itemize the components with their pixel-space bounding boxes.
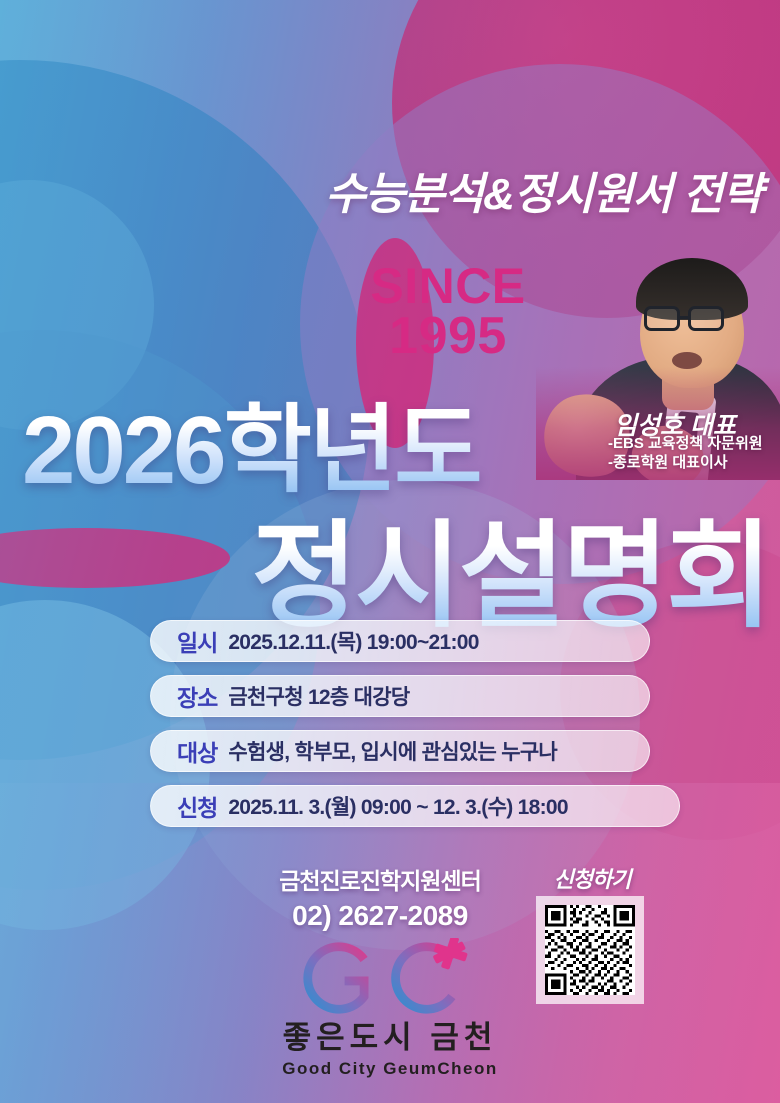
speaker-credentials: -EBS 교육정책 자문위원 -종로학원 대표이사 (608, 434, 763, 472)
logo-english-text: Good City GeumCheon (0, 1059, 780, 1079)
info-label: 장소 (177, 679, 217, 713)
info-row-date: 일시 2025.12.11.(목) 19:00~21:00 (150, 620, 650, 662)
info-label: 대상 (177, 734, 217, 768)
info-value: 2025.12.11.(목) 19:00~21:00 (228, 626, 478, 656)
gc-logo-mark (288, 938, 493, 1018)
event-poster: 수능분석&정시원서 전략 SINCE 1995 2026학년도 정시설명회 임성… (0, 0, 780, 1103)
info-label: 신청 (177, 789, 217, 823)
info-row-place: 장소 금천구청 12층 대강당 (150, 675, 650, 717)
poster-headline: 수능분석&정시원서 전략 (0, 158, 762, 222)
speaker-credential-item: -종로학원 대표이사 (608, 453, 763, 472)
since-label: SINCE (338, 262, 558, 311)
logo-korean-text: 좋은도시 금천 (0, 1012, 780, 1057)
contact-phone[interactable]: 02) 2627-2089 (246, 900, 514, 932)
info-value: 금천구청 12층 대강당 (228, 681, 409, 711)
info-value: 2025.11. 3.(월) 09:00 ~ 12. 3.(수) 18:00 (228, 791, 568, 821)
city-logo: 좋은도시 금천 Good City GeumCheon (0, 938, 780, 1079)
contact-block: 금천진로진학지원센터 02) 2627-2089 (246, 862, 514, 932)
info-value: 수험생, 학부모, 입시에 관심있는 누구나 (228, 736, 557, 766)
contact-organization: 금천진로진학지원센터 (246, 862, 514, 896)
event-info-list: 일시 2025.12.11.(목) 19:00~21:00 장소 금천구청 12… (150, 620, 650, 840)
info-row-application: 신청 2025.11. 3.(월) 09:00 ~ 12. 3.(수) 18:0… (150, 785, 680, 827)
apply-label: 신청하기 (536, 862, 648, 894)
info-label: 일시 (177, 624, 217, 658)
since-block: SINCE 1995 (338, 262, 558, 362)
speaker-credential-item: -EBS 교육정책 자문위원 (608, 434, 763, 453)
info-row-audience: 대상 수험생, 학부모, 입시에 관심있는 누구나 (150, 730, 650, 772)
since-year: 1995 (338, 311, 558, 362)
